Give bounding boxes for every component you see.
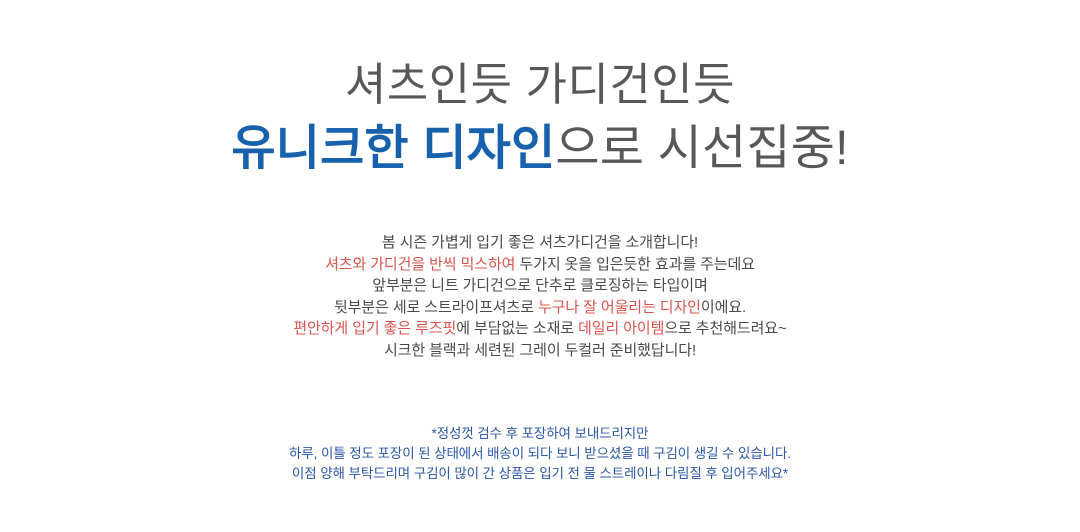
- product-description-page: 셔츠인듯 가디건인듯 유니크한 디자인으로 시선집중! 봄 시즌 가볍게 입기 …: [0, 0, 1080, 532]
- body-line-4-red: 누구나 잘 어울리는 디자인: [538, 299, 701, 316]
- body-line-2-red: 셔츠와 가디건을 반씩 믹스하여: [325, 256, 515, 273]
- body-line-1: 봄 시즌 가볍게 입기 좋은 셔츠가디건을 소개합니다!: [0, 232, 1080, 254]
- body-line-3: 앞부분은 니트 가디건으로 단추로 클로징하는 타입이며: [0, 275, 1080, 297]
- body-line-5-gray-a: 에 부담없는 소재로: [456, 320, 578, 337]
- headline-highlight-text: 유니크한 디자인: [231, 122, 555, 175]
- body-line-5-red-b: 데일리 아이템: [578, 320, 664, 337]
- body-line-5-red-a: 편안하게 입기 좋은 루즈핏: [293, 320, 456, 337]
- notice-line-2: 하루, 이틀 정도 포장이 된 상태에서 배송이 되다 보니 받으셨을 때 구김…: [0, 444, 1080, 464]
- body-line-2: 셔츠와 가디건을 반씩 믹스하여 두가지 옷을 입은듯한 효과를 주는데요: [0, 254, 1080, 276]
- shipping-notice-block: *정성껏 검수 후 포장하여 보내드리지만 하루, 이틀 정도 포장이 된 상태…: [0, 424, 1080, 484]
- headline-line-1: 셔츠인듯 가디건인듯: [0, 54, 1080, 116]
- body-copy-block: 봄 시즌 가볍게 입기 좋은 셔츠가디건을 소개합니다! 셔츠와 가디건을 반씩…: [0, 232, 1080, 361]
- headline-trailing-text: 으로 시선집중!: [555, 122, 848, 175]
- headline-line-2: 유니크한 디자인으로 시선집중!: [0, 116, 1080, 182]
- body-line-4-gray-a: 뒷부분은 세로 스트라이프셔츠로: [334, 299, 538, 316]
- body-line-4: 뒷부분은 세로 스트라이프셔츠로 누구나 잘 어울리는 디자인이에요.: [0, 297, 1080, 319]
- body-line-6: 시크한 블랙과 세련된 그레이 두컬러 준비했답니다!: [0, 340, 1080, 362]
- headline-block: 셔츠인듯 가디건인듯 유니크한 디자인으로 시선집중!: [0, 54, 1080, 182]
- body-line-5: 편안하게 입기 좋은 루즈핏에 부담없는 소재로 데일리 아이템으로 추천해드려…: [0, 318, 1080, 340]
- notice-line-1: *정성껏 검수 후 포장하여 보내드리지만: [0, 424, 1080, 444]
- body-line-4-gray-b: 이에요.: [701, 299, 746, 316]
- body-line-2-gray: 두가지 옷을 입은듯한 효과를 주는데요: [515, 256, 755, 273]
- body-line-5-gray-b: 으로 추천해드려요~: [664, 320, 786, 337]
- notice-line-3: 이점 양해 부탁드리며 구김이 많이 간 상품은 입기 전 물 스트레이나 다림…: [0, 464, 1080, 484]
